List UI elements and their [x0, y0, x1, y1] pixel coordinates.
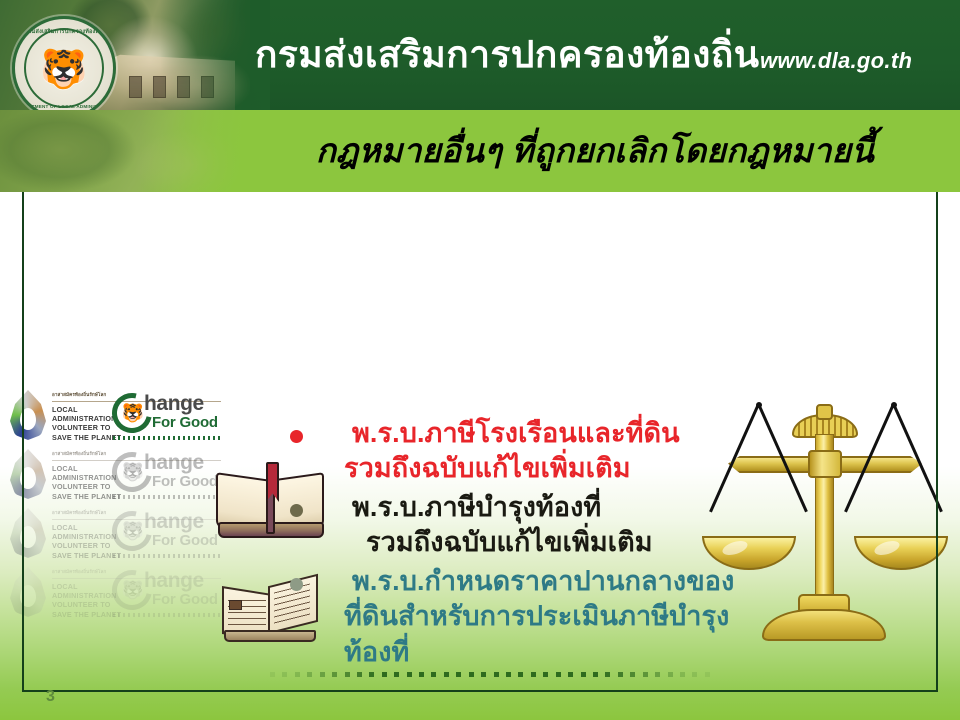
- dotted-rule: [113, 554, 221, 558]
- change-word: hange: [144, 510, 204, 534]
- change-word: hange: [144, 392, 204, 416]
- for-good-word: For Good: [152, 473, 218, 490]
- slide: กรมส่งเสริมการปกครองท้องถิ่น 🐯 DEPARTMEN…: [0, 0, 960, 720]
- change-for-good-logo: 🐯 hange For Good: [112, 451, 222, 503]
- water-drop-icon: [10, 508, 46, 560]
- water-drop-icon: [10, 390, 46, 442]
- for-good-word: For Good: [152, 414, 218, 431]
- list-item-line: พ.ร.บ.ภาษีบำรุงท้องที่: [352, 490, 810, 525]
- singha-lion-icon: 🐯: [121, 578, 145, 602]
- bullet-dot-icon: [290, 430, 303, 443]
- frame-border-left: [22, 192, 24, 692]
- decorative-dotted-line: [270, 671, 710, 678]
- singha-lion-icon: 🐯: [121, 519, 145, 543]
- emblem-bottom-text: DEPARTMENT OF LOCAL ADMINISTRATION: [15, 104, 113, 109]
- bullet-list: พ.ร.บ.ภาษีโรงเรือนและที่ดิน รวมถึงฉบับแก…: [290, 416, 810, 674]
- for-good-word: For Good: [152, 591, 218, 608]
- list-item: พ.ร.บ.ภาษีบำรุงท้องที่ รวมถึงฉบับแก้ไขเพ…: [290, 490, 810, 560]
- list-item-line: รวมถึงฉบับแก้ไขเพิ่มเติม: [344, 451, 810, 486]
- title-bar: กฎหมายอื่นๆ ที่ถูกยกเลิกโดยกฎหมายนี้: [0, 110, 960, 192]
- page-number: 3: [46, 688, 55, 706]
- dotted-rule: [113, 613, 221, 617]
- frame-border-right: [936, 192, 938, 692]
- list-item: พ.ร.บ.กำหนดราคาปานกลางของ ที่ดินสำหรับกา…: [290, 564, 810, 669]
- list-item-text: พ.ร.บ.ภาษีโรงเรือนและที่ดิน รวมถึงฉบับแก…: [344, 416, 810, 486]
- organization-title: กรมส่งเสริมการปกครองท้องถิ่น: [255, 36, 760, 73]
- list-item-line: พ.ร.บ.ภาษีโรงเรือนและที่ดิน: [352, 416, 810, 451]
- singha-lion-icon: 🐯: [121, 460, 145, 484]
- change-word: hange: [144, 451, 204, 475]
- website-url: www.dla.go.th: [760, 48, 912, 74]
- change-for-good-logo: 🐯 hange For Good: [112, 510, 222, 562]
- header-band: กรมส่งเสริมการปกครองท้องถิ่น 🐯 DEPARTMEN…: [0, 0, 960, 110]
- emblem-top-text: กรมส่งเสริมการปกครองท้องถิ่น: [15, 28, 113, 36]
- singha-lion-icon: 🐯: [40, 51, 87, 89]
- header-photo-fade: [160, 0, 270, 110]
- water-drop-icon: [10, 567, 46, 619]
- bullet-dot-icon: [290, 504, 303, 517]
- water-drop-icon: [10, 449, 46, 501]
- dotted-rule: [113, 436, 221, 440]
- content-area: อาสาสมัครท้องถิ่นรักษ์โลก LOCALADMINISTR…: [0, 192, 960, 720]
- list-item-line: พ.ร.บ.กำหนดราคาปานกลางของ: [352, 564, 810, 599]
- for-good-word: For Good: [152, 532, 218, 549]
- dotted-rule: [113, 495, 221, 499]
- list-item-text: พ.ร.บ.ภาษีบำรุงท้องที่ รวมถึงฉบับแก้ไขเพ…: [344, 490, 810, 560]
- list-item-line: ท้องที่: [344, 635, 810, 670]
- scale-pan-right: [854, 522, 948, 556]
- list-item-line: ที่ดินสำหรับการประเมินภาษีบำรุง: [344, 599, 810, 634]
- page-title: กฎหมายอื่นๆ ที่ถูกยกเลิกโดยกฎหมายนี้: [245, 110, 945, 192]
- list-item-line: รวมถึงฉบับแก้ไขเพิ่มเติม: [366, 525, 810, 560]
- frame-border-bottom: [22, 690, 938, 692]
- bullet-dot-icon: [290, 578, 303, 591]
- change-for-good-logo: 🐯 hange For Good: [112, 392, 222, 444]
- list-item-text: พ.ร.บ.กำหนดราคาปานกลางของ ที่ดินสำหรับกา…: [344, 564, 810, 669]
- singha-lion-icon: 🐯: [121, 401, 145, 425]
- title-bar-photo-fade: [140, 110, 250, 192]
- change-word: hange: [144, 569, 204, 593]
- list-item: พ.ร.บ.ภาษีโรงเรือนและที่ดิน รวมถึงฉบับแก…: [290, 416, 810, 486]
- department-emblem-icon: กรมส่งเสริมการปกครองท้องถิ่น 🐯 DEPARTMEN…: [12, 16, 116, 110]
- change-for-good-logo: 🐯 hange For Good: [112, 569, 222, 621]
